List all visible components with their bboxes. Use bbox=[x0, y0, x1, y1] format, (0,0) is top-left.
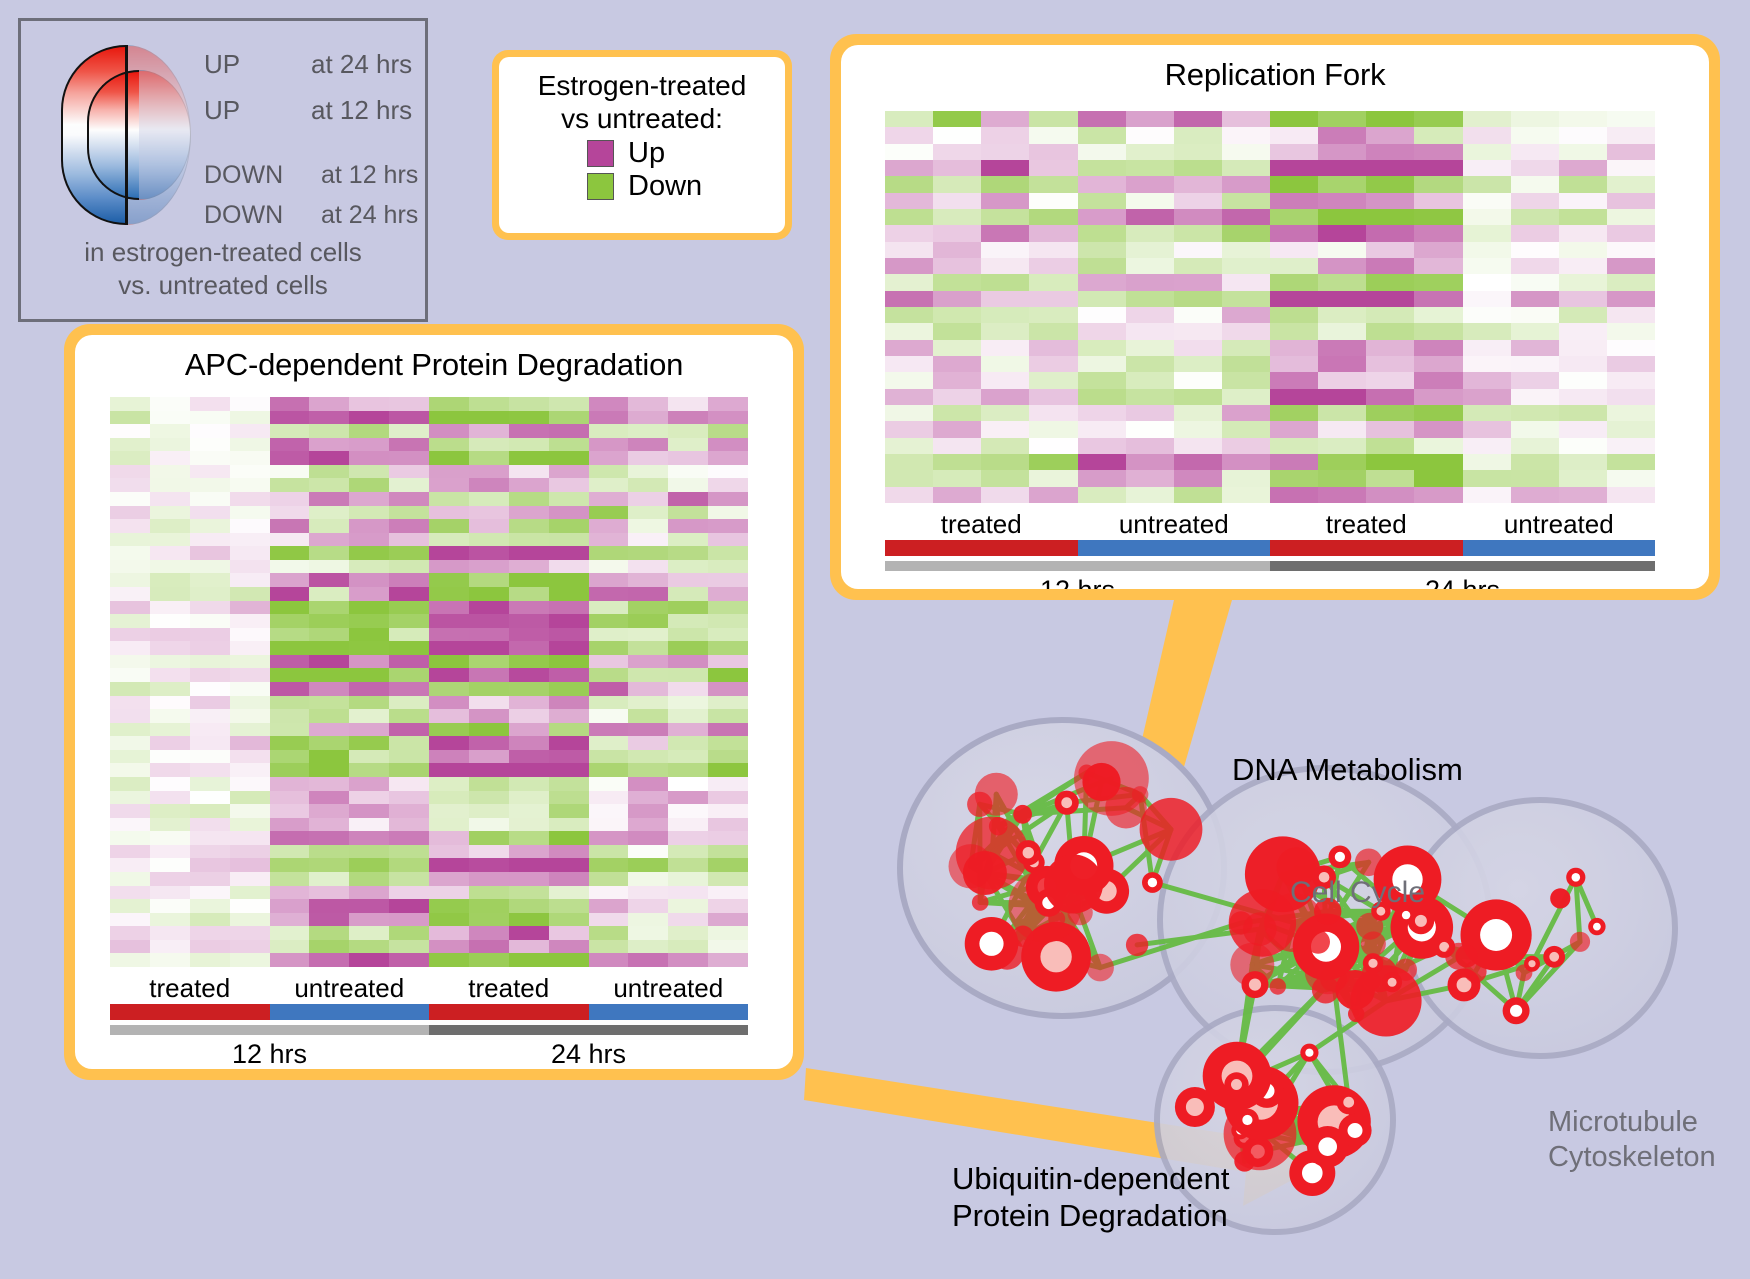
heatmap-cell bbox=[190, 818, 230, 832]
heatmap-cell bbox=[628, 438, 668, 452]
heatmap-cell bbox=[668, 709, 708, 723]
heatmap-cell bbox=[1318, 307, 1366, 323]
heatmap-cell bbox=[110, 913, 150, 927]
heatmap-cell bbox=[509, 872, 549, 886]
heatmap-cell bbox=[885, 225, 933, 241]
heatmap-cell bbox=[190, 723, 230, 737]
heatmap-cell bbox=[708, 723, 748, 737]
ring-footer-line2: vs. untreated cells bbox=[21, 269, 425, 302]
heatmap-cell bbox=[981, 160, 1029, 176]
heatmap-cell bbox=[1607, 176, 1655, 192]
heatmap-cell bbox=[150, 438, 190, 452]
heatmap-cell bbox=[429, 546, 469, 560]
heatmap-cell bbox=[1222, 111, 1270, 127]
network-node bbox=[1229, 889, 1296, 956]
ring-label-up-24: UP bbox=[204, 49, 240, 80]
heatmap-cell bbox=[270, 940, 310, 954]
heatmap-cell bbox=[469, 641, 509, 655]
heatmap-cell bbox=[190, 628, 230, 642]
heatmap-cell bbox=[270, 953, 310, 967]
heatmap-cell bbox=[1270, 144, 1318, 160]
heatmap-cell bbox=[270, 397, 310, 411]
heatmap-cell bbox=[110, 668, 150, 682]
panel-title-replication-fork: Replication Fork bbox=[841, 45, 1709, 93]
heatmap-cell bbox=[628, 886, 668, 900]
heatmap-cell bbox=[1414, 487, 1462, 503]
heatmap-cell bbox=[549, 804, 589, 818]
heatmap-cell bbox=[1511, 372, 1559, 388]
heatmap-cell bbox=[469, 858, 509, 872]
heatmap-cell bbox=[190, 926, 230, 940]
heatmap-cell bbox=[708, 926, 748, 940]
heatmap-cell bbox=[469, 655, 509, 669]
heatmap-cell bbox=[668, 397, 708, 411]
heatmap-cell bbox=[309, 478, 349, 492]
heatmap-cell bbox=[190, 750, 230, 764]
heatmap-cell bbox=[668, 478, 708, 492]
timepoint-label: 12 hrs bbox=[110, 1039, 429, 1069]
heatmap-cell bbox=[389, 506, 429, 520]
heatmap-cell bbox=[933, 470, 981, 486]
timepoint-labels-apc-degradation: 12 hrs24 hrs bbox=[110, 1039, 748, 1069]
heatmap-cell bbox=[1078, 307, 1126, 323]
heatmap-cell bbox=[349, 777, 389, 791]
heatmap-cell bbox=[933, 340, 981, 356]
heatmap-cell bbox=[1126, 438, 1174, 454]
heatmap-cell bbox=[708, 953, 748, 967]
network-node bbox=[1570, 932, 1590, 952]
heatmap-cell bbox=[349, 451, 389, 465]
heatmap-cell bbox=[933, 438, 981, 454]
heatmap-cell bbox=[270, 465, 310, 479]
heatmap-cell bbox=[1366, 307, 1414, 323]
group-label: treated bbox=[885, 509, 1078, 540]
heatmap-cell bbox=[349, 696, 389, 710]
heatmap-cell bbox=[589, 533, 629, 547]
heatmap-cell bbox=[429, 804, 469, 818]
heatmap-cell bbox=[389, 818, 429, 832]
heatmap-cell bbox=[190, 519, 230, 533]
heatmap-cell bbox=[1029, 291, 1077, 307]
heatmap-cell bbox=[270, 723, 310, 737]
heatmap-cell bbox=[230, 750, 270, 764]
heatmap-cell bbox=[1174, 160, 1222, 176]
heatmap-cell bbox=[230, 953, 270, 967]
heatmap-cell bbox=[230, 763, 270, 777]
network-node bbox=[1044, 855, 1103, 914]
heatmap-cell bbox=[628, 573, 668, 587]
heatmap-cell bbox=[190, 913, 230, 927]
heatmap-cell bbox=[549, 926, 589, 940]
heatmap-cell bbox=[708, 872, 748, 886]
heatmap-cell bbox=[668, 560, 708, 574]
heatmap-cell bbox=[469, 831, 509, 845]
heatmap-apc-degradation bbox=[110, 397, 748, 967]
down-swatch-icon bbox=[587, 173, 614, 200]
heatmap-cell bbox=[1607, 356, 1655, 372]
network-node bbox=[972, 894, 989, 911]
heatmap-cell bbox=[628, 519, 668, 533]
group-color-bar bbox=[1270, 540, 1463, 556]
heatmap-cell bbox=[349, 601, 389, 615]
heatmap-cell bbox=[230, 478, 270, 492]
heatmap-cell bbox=[708, 628, 748, 642]
heatmap-cell bbox=[110, 736, 150, 750]
heatmap-cell bbox=[1078, 274, 1126, 290]
heatmap-cell bbox=[628, 587, 668, 601]
heatmap-cell bbox=[270, 696, 310, 710]
heatmap-cell bbox=[708, 573, 748, 587]
heatmap-cell bbox=[1318, 470, 1366, 486]
heatmap-cell bbox=[668, 953, 708, 967]
heatmap-cell bbox=[349, 940, 389, 954]
network-node bbox=[1140, 798, 1203, 861]
heatmap-cell bbox=[1174, 111, 1222, 127]
heatmap-cell bbox=[628, 424, 668, 438]
heatmap-cell bbox=[349, 655, 389, 669]
heatmap-cell bbox=[933, 307, 981, 323]
heatmap-cell bbox=[589, 804, 629, 818]
heatmap-cell bbox=[309, 465, 349, 479]
cluster-label-microtubule: Microtubule Cytoskeleton bbox=[1548, 1105, 1716, 1176]
heatmap-cell bbox=[389, 573, 429, 587]
heatmap-cell bbox=[628, 492, 668, 506]
heatmap-cell bbox=[309, 791, 349, 805]
heatmap-cell bbox=[589, 519, 629, 533]
heatmap-cell bbox=[1318, 144, 1366, 160]
heatmap-cell bbox=[628, 763, 668, 777]
heatmap-cell bbox=[1222, 323, 1270, 339]
heatmap-cell bbox=[1318, 487, 1366, 503]
heatmap-cell bbox=[885, 421, 933, 437]
heatmap-cell bbox=[1078, 127, 1126, 143]
heatmap-cell bbox=[309, 519, 349, 533]
heatmap-cell bbox=[509, 845, 549, 859]
heatmap-cell bbox=[1222, 160, 1270, 176]
heatmap-cell bbox=[549, 628, 589, 642]
heatmap-cell bbox=[549, 913, 589, 927]
heatmap-cell bbox=[1511, 340, 1559, 356]
heatmap-cell bbox=[469, 668, 509, 682]
heatmap-cell bbox=[1029, 225, 1077, 241]
heatmap-cell bbox=[628, 899, 668, 913]
heatmap-cell bbox=[509, 641, 549, 655]
heatmap-cell bbox=[1078, 160, 1126, 176]
heatmap-cell bbox=[190, 736, 230, 750]
heatmap-cell bbox=[549, 506, 589, 520]
heatmap-cell bbox=[230, 709, 270, 723]
heatmap-cell bbox=[1029, 372, 1077, 388]
heatmap-cell bbox=[1222, 454, 1270, 470]
heatmap-cell bbox=[150, 858, 190, 872]
heatmap-cell bbox=[190, 560, 230, 574]
heatmap-cell bbox=[309, 696, 349, 710]
heatmap-cell bbox=[589, 736, 629, 750]
heatmap-cell bbox=[469, 791, 509, 805]
heatmap-cell bbox=[1126, 291, 1174, 307]
heatmap-cell bbox=[1414, 193, 1462, 209]
heatmap-cell bbox=[589, 546, 629, 560]
heatmap-cell bbox=[668, 411, 708, 425]
network-node-core bbox=[1528, 960, 1535, 967]
group-label: untreated bbox=[589, 973, 749, 1004]
heatmap-cell bbox=[230, 872, 270, 886]
heatmap-cell bbox=[981, 340, 1029, 356]
heatmap-cell bbox=[1511, 127, 1559, 143]
heatmap-cell bbox=[389, 411, 429, 425]
heatmap-cell bbox=[1222, 274, 1270, 290]
heatmap-cell bbox=[708, 438, 748, 452]
heatmap-cell bbox=[1463, 176, 1511, 192]
heatmap-cell bbox=[628, 614, 668, 628]
heatmap-cell bbox=[1318, 291, 1366, 307]
network-node bbox=[1550, 888, 1570, 908]
heatmap-cell bbox=[469, 438, 509, 452]
heatmap-cell bbox=[389, 465, 429, 479]
heatmap-cell bbox=[110, 533, 150, 547]
heatmap-cell bbox=[668, 791, 708, 805]
heatmap-cell bbox=[549, 899, 589, 913]
heatmap-cell bbox=[150, 668, 190, 682]
heatmap-cell bbox=[509, 940, 549, 954]
heatmap-cell bbox=[309, 438, 349, 452]
heatmap-cell bbox=[708, 424, 748, 438]
heatmap-cell bbox=[150, 424, 190, 438]
heatmap-cell bbox=[1222, 470, 1270, 486]
heatmap-cell bbox=[110, 655, 150, 669]
heatmap-cell bbox=[1270, 274, 1318, 290]
heatmap-cell bbox=[1511, 356, 1559, 372]
heatmap-cell bbox=[1607, 372, 1655, 388]
heatmap-cell bbox=[1270, 127, 1318, 143]
heatmap-cell bbox=[349, 763, 389, 777]
heatmap-cell bbox=[933, 274, 981, 290]
heatmap-cell bbox=[1222, 291, 1270, 307]
heatmap-cell bbox=[1414, 454, 1462, 470]
heatmap-cell bbox=[589, 872, 629, 886]
heatmap-cell bbox=[1029, 176, 1077, 192]
heatmap-cell bbox=[349, 709, 389, 723]
heatmap-cell bbox=[270, 506, 310, 520]
heatmap-cell bbox=[150, 831, 190, 845]
heatmap-cell bbox=[469, 736, 509, 750]
heatmap-cell bbox=[1078, 438, 1126, 454]
heatmap-cell bbox=[1607, 225, 1655, 241]
heatmap-cell bbox=[469, 397, 509, 411]
heatmap-cell bbox=[1318, 176, 1366, 192]
heatmap-cell bbox=[349, 845, 389, 859]
heatmap-cell bbox=[349, 546, 389, 560]
heatmap-cell bbox=[981, 193, 1029, 209]
heatmap-cell bbox=[509, 573, 549, 587]
heatmap-cell bbox=[1029, 340, 1077, 356]
heatmap-cell bbox=[389, 655, 429, 669]
heatmap-cell bbox=[429, 872, 469, 886]
heatmap-cell bbox=[150, 940, 190, 954]
heatmap-cell bbox=[549, 763, 589, 777]
heatmap-cell bbox=[429, 818, 469, 832]
treatment-bar-replication-fork bbox=[885, 540, 1655, 556]
heatmap-cell bbox=[1270, 258, 1318, 274]
heatmap-cell bbox=[1270, 389, 1318, 405]
heatmap-cell bbox=[549, 723, 589, 737]
heatmap-cell bbox=[981, 389, 1029, 405]
heatmap-cell bbox=[708, 587, 748, 601]
heatmap-cell bbox=[1559, 389, 1607, 405]
heatmap-cell bbox=[589, 723, 629, 737]
heatmap-cell bbox=[1029, 438, 1077, 454]
ring-suffix-down-12: at 12 hrs bbox=[321, 161, 418, 190]
heatmap-cell bbox=[1078, 176, 1126, 192]
heatmap-cell bbox=[349, 614, 389, 628]
heatmap-cell bbox=[1318, 372, 1366, 388]
heatmap-cell bbox=[1463, 372, 1511, 388]
heatmap-cell bbox=[1366, 454, 1414, 470]
heatmap-cell bbox=[429, 478, 469, 492]
heatmap-cell bbox=[110, 438, 150, 452]
heatmap-cell bbox=[708, 411, 748, 425]
heatmap-cell bbox=[190, 709, 230, 723]
heatmap-cell bbox=[1222, 258, 1270, 274]
timepoint-label: 24 hrs bbox=[429, 1039, 748, 1069]
heatmap-cell bbox=[933, 487, 981, 503]
heatmap-cell bbox=[1126, 307, 1174, 323]
heatmap-cell bbox=[230, 533, 270, 547]
heatmap-cell bbox=[150, 750, 190, 764]
heatmap-cell bbox=[1029, 193, 1077, 209]
heatmap-cell bbox=[469, 628, 509, 642]
heatmap-cell bbox=[270, 587, 310, 601]
heatmap-cell bbox=[190, 791, 230, 805]
heatmap-cell bbox=[349, 791, 389, 805]
heatmap-cell bbox=[270, 926, 310, 940]
heatmap-cell bbox=[589, 641, 629, 655]
heatmap-cell bbox=[1029, 307, 1077, 323]
heatmap-cell bbox=[270, 858, 310, 872]
expression-ring-legend: UP at 24 hrs UP at 12 hrs DOWN at 12 hrs… bbox=[18, 18, 428, 322]
heatmap-cell bbox=[933, 111, 981, 127]
heatmap-cell bbox=[110, 397, 150, 411]
heatmap-cell bbox=[509, 655, 549, 669]
heatmap-cell bbox=[549, 953, 589, 967]
ring-diagram bbox=[51, 37, 201, 227]
heatmap-cell bbox=[1174, 470, 1222, 486]
heatmap-cell bbox=[549, 886, 589, 900]
heatmap-cell bbox=[1511, 487, 1559, 503]
heatmap-cell bbox=[668, 519, 708, 533]
heatmap-cell bbox=[885, 291, 933, 307]
heatmap-cell bbox=[708, 641, 748, 655]
heatmap-cell bbox=[1222, 421, 1270, 437]
heatmap-cell bbox=[349, 682, 389, 696]
heatmap-cell bbox=[1366, 372, 1414, 388]
group-color-bar bbox=[429, 1004, 589, 1020]
heatmap-cell bbox=[885, 144, 933, 160]
heatmap-cell bbox=[885, 127, 933, 143]
heatmap-cell bbox=[469, 818, 509, 832]
heatmap-cell bbox=[1463, 340, 1511, 356]
heatmap-cell bbox=[1318, 323, 1366, 339]
heatmap-cell bbox=[1126, 372, 1174, 388]
heatmap-cell bbox=[309, 546, 349, 560]
heatmap-cell bbox=[981, 242, 1029, 258]
heatmap-cell bbox=[110, 723, 150, 737]
heatmap-cell bbox=[1463, 291, 1511, 307]
heatmap-cell bbox=[270, 533, 310, 547]
heatmap-cell bbox=[1029, 258, 1077, 274]
heatmap-cell bbox=[469, 709, 509, 723]
heatmap-cell bbox=[1366, 340, 1414, 356]
cluster-label-ubiquitin-line1: Ubiquitin-dependent bbox=[952, 1160, 1230, 1197]
heatmap-cell bbox=[429, 655, 469, 669]
heatmap-cell bbox=[1559, 127, 1607, 143]
heatmap-cell bbox=[309, 845, 349, 859]
heatmap-cell bbox=[349, 506, 389, 520]
heatmap-cell bbox=[628, 709, 668, 723]
heatmap-cell bbox=[309, 506, 349, 520]
heatmap-cell bbox=[469, 886, 509, 900]
heatmap-cell bbox=[1222, 242, 1270, 258]
network-node bbox=[949, 844, 993, 888]
heatmap-cell bbox=[230, 438, 270, 452]
heatmap-cell bbox=[349, 913, 389, 927]
heatmap-cell bbox=[981, 421, 1029, 437]
heatmap-cell bbox=[110, 424, 150, 438]
heatmap-cell bbox=[628, 872, 668, 886]
heatmap-cell bbox=[1559, 274, 1607, 290]
heatmap-cell bbox=[885, 470, 933, 486]
heatmap-cell bbox=[668, 723, 708, 737]
heatmap-cell bbox=[1463, 144, 1511, 160]
heatmap-cell bbox=[668, 492, 708, 506]
heatmap-cell bbox=[1463, 193, 1511, 209]
heatmap-cell bbox=[190, 668, 230, 682]
heatmap-cell bbox=[190, 804, 230, 818]
heatmap-cell bbox=[589, 655, 629, 669]
heatmap-cell bbox=[429, 682, 469, 696]
heatmap-cell bbox=[589, 709, 629, 723]
heatmap-cell bbox=[1126, 389, 1174, 405]
heatmap-cell bbox=[190, 478, 230, 492]
panel-title-apc-degradation: APC-dependent Protein Degradation bbox=[75, 335, 793, 383]
heatmap-cell bbox=[1318, 225, 1366, 241]
network-node bbox=[1126, 934, 1148, 956]
heatmap-cell bbox=[1414, 176, 1462, 192]
heatmap-cell bbox=[1463, 356, 1511, 372]
heatmap-cell bbox=[469, 492, 509, 506]
heatmap-cell bbox=[549, 736, 589, 750]
heatmap-cell bbox=[309, 587, 349, 601]
heatmap-cell bbox=[1414, 111, 1462, 127]
network-node-core bbox=[1318, 1137, 1337, 1156]
heatmap-cell bbox=[1463, 487, 1511, 503]
heatmap-cell bbox=[230, 777, 270, 791]
heatmap-cell bbox=[270, 913, 310, 927]
heatmap-cell bbox=[1174, 176, 1222, 192]
heatmap-cell bbox=[1463, 209, 1511, 225]
heatmap-cell bbox=[708, 465, 748, 479]
network-node bbox=[1356, 913, 1383, 940]
heatmap-cell bbox=[270, 845, 310, 859]
heatmap-cell bbox=[1318, 209, 1366, 225]
network-node bbox=[1086, 954, 1114, 982]
heatmap-cell bbox=[1318, 405, 1366, 421]
heatmap-cell bbox=[1607, 405, 1655, 421]
heatmap-cell bbox=[589, 478, 629, 492]
heatmap-cell bbox=[230, 804, 270, 818]
heatmap-cell bbox=[309, 913, 349, 927]
network-node bbox=[1320, 965, 1347, 992]
